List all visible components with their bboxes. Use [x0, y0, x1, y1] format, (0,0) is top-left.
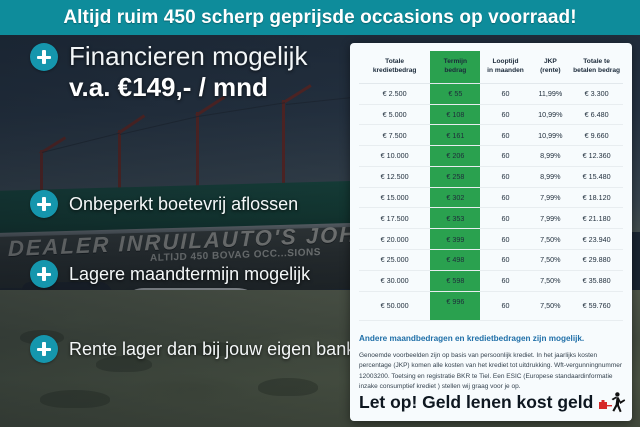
table-cell: 60	[480, 187, 530, 208]
table-row: € 7.500€ 1616010,99%€ 9.660	[359, 125, 623, 146]
table-cell: € 30.000	[359, 270, 430, 291]
column-header-term-amount: Termijn bedrag	[430, 51, 480, 83]
table-cell: € 3.300	[570, 83, 623, 104]
table-cell: € 35.880	[570, 270, 623, 291]
table-cell: € 399	[430, 229, 480, 250]
table-cell: 60	[480, 229, 530, 250]
table-cell: 60	[480, 104, 530, 125]
column-header-duration: Looptijd in maanden	[480, 51, 530, 83]
table-cell: 7,99%	[531, 208, 571, 229]
table-cell: € 12.360	[570, 146, 623, 167]
rates-table-head: Totale kredietbedrag Termijn bedrag Loop…	[359, 51, 623, 83]
note-title: Andere maandbedragen en kredietbedragen …	[359, 334, 623, 345]
table-cell: € 15.480	[570, 166, 623, 187]
plus-circle-icon	[30, 260, 58, 288]
table-cell: 60	[480, 249, 530, 270]
table-cell: 60	[480, 291, 530, 320]
table-row: € 2.500€ 556011,99%€ 3.300	[359, 83, 623, 104]
note-body: Genoemde voorbeelden zijn op basis van p…	[359, 351, 623, 393]
table-row: € 25.000€ 498607,50%€ 29.880	[359, 249, 623, 270]
table-cell: 60	[480, 166, 530, 187]
table-cell: € 6.480	[570, 104, 623, 125]
table-cell: € 55	[430, 83, 480, 104]
table-cell: € 258	[430, 166, 480, 187]
top-banner: Altijd ruim 450 scherp geprijsde occasio…	[0, 0, 640, 35]
feature-item-2: Rente lager dan bij jouw eigen bank	[30, 335, 355, 363]
table-cell: € 17.500	[359, 208, 430, 229]
header-line-2: betalen bedrag	[571, 66, 622, 75]
rates-table: Totale kredietbedrag Termijn bedrag Loop…	[359, 51, 623, 321]
column-header-jkp: JKP (rente)	[531, 51, 571, 83]
table-cell: € 2.500	[359, 83, 430, 104]
table-cell: € 302	[430, 187, 480, 208]
rates-card: Totale kredietbedrag Termijn bedrag Loop…	[350, 43, 632, 421]
table-cell: 10,99%	[531, 125, 571, 146]
table-row: € 30.000€ 598607,50%€ 35.880	[359, 270, 623, 291]
table-cell: € 5.000	[359, 104, 430, 125]
table-cell: € 206	[430, 146, 480, 167]
table-cell: € 353	[430, 208, 480, 229]
table-cell: € 108	[430, 104, 480, 125]
table-cell: € 20.000	[359, 229, 430, 250]
table-cell: € 12.500	[359, 166, 430, 187]
feature-list: Financieren mogelijk v.a. €149,- / mnd O…	[0, 35, 350, 427]
feature-item-0: Onbeperkt boetevrij aflossen	[30, 190, 298, 218]
financing-headline-line1: Financieren mogelijk	[69, 43, 307, 71]
table-cell: 60	[480, 270, 530, 291]
financing-headline-row: Financieren mogelijk	[30, 43, 346, 71]
table-cell: € 996	[430, 291, 480, 320]
financing-headline-line2: v.a. €149,- / mnd	[69, 73, 346, 101]
table-cell: € 59.760	[570, 291, 623, 320]
header-line-2: bedrag	[431, 66, 479, 75]
advertisement-banner: DEALER INRUILAUTO'S JOHAN MEURE ALTIJD 4…	[0, 0, 640, 427]
table-cell: 60	[480, 208, 530, 229]
table-cell: € 50.000	[359, 291, 430, 320]
feature-label: Rente lager dan bij jouw eigen bank	[69, 339, 355, 360]
table-header-row: Totale kredietbedrag Termijn bedrag Loop…	[359, 51, 623, 83]
table-cell: € 15.000	[359, 187, 430, 208]
table-cell: € 21.180	[570, 208, 623, 229]
table-row: € 20.000€ 399607,50%€ 23.940	[359, 229, 623, 250]
loan-warning: Let op! Geld lenen kost geld	[359, 391, 626, 413]
table-cell: € 10.000	[359, 146, 430, 167]
table-row: € 5.000€ 1086010,99%€ 6.480	[359, 104, 623, 125]
table-cell: € 9.660	[570, 125, 623, 146]
plus-circle-icon	[30, 43, 58, 71]
money-bag-walking-person-icon	[598, 391, 626, 413]
table-cell: 7,50%	[531, 291, 571, 320]
header-line-1: Termijn	[431, 57, 479, 66]
header-line-2: kredietbedrag	[360, 66, 429, 75]
header-line-2: (rente)	[532, 66, 570, 75]
rates-table-body: € 2.500€ 556011,99%€ 3.300€ 5.000€ 10860…	[359, 83, 623, 320]
plus-circle-icon	[30, 190, 58, 218]
table-cell: 8,99%	[531, 146, 571, 167]
header-line-2: in maanden	[481, 66, 529, 75]
header-line-1: Totale	[360, 57, 429, 66]
table-cell: 8,99%	[531, 166, 571, 187]
table-cell: € 161	[430, 125, 480, 146]
feature-label: Lagere maandtermijn mogelijk	[69, 264, 310, 285]
table-cell: 7,99%	[531, 187, 571, 208]
table-cell: € 498	[430, 249, 480, 270]
feature-label: Onbeperkt boetevrij aflossen	[69, 194, 298, 215]
table-cell: 10,99%	[531, 104, 571, 125]
table-cell: € 7.500	[359, 125, 430, 146]
banner-headline: Altijd ruim 450 scherp geprijsde occasio…	[63, 7, 576, 29]
table-cell: € 25.000	[359, 249, 430, 270]
table-cell: 60	[480, 83, 530, 104]
table-cell: € 29.880	[570, 249, 623, 270]
column-header-total-payable: Totale te betalen bedrag	[570, 51, 623, 83]
table-cell: 60	[480, 125, 530, 146]
column-header-total-credit: Totale kredietbedrag	[359, 51, 430, 83]
table-cell: € 18.120	[570, 187, 623, 208]
plus-circle-icon	[30, 335, 58, 363]
table-cell: € 23.940	[570, 229, 623, 250]
table-cell: 7,50%	[531, 270, 571, 291]
table-cell: 7,50%	[531, 249, 571, 270]
financing-headline: Financieren mogelijk v.a. €149,- / mnd	[30, 43, 346, 101]
table-cell: 11,99%	[531, 83, 571, 104]
table-row: € 10.000€ 206608,99%€ 12.360	[359, 146, 623, 167]
header-line-1: JKP	[532, 57, 570, 66]
table-row: € 17.500€ 353607,99%€ 21.180	[359, 208, 623, 229]
table-row: € 50.000€ 996607,50%€ 59.760	[359, 291, 623, 320]
table-cell: 60	[480, 146, 530, 167]
feature-item-1: Lagere maandtermijn mogelijk	[30, 260, 310, 288]
loan-warning-text: Let op! Geld lenen kost geld	[359, 392, 593, 413]
header-line-1: Looptijd	[481, 57, 529, 66]
table-row: € 15.000€ 302607,99%€ 18.120	[359, 187, 623, 208]
table-cell: € 598	[430, 270, 480, 291]
table-row: € 12.500€ 258608,99%€ 15.480	[359, 166, 623, 187]
table-cell: 7,50%	[531, 229, 571, 250]
header-line-1: Totale te	[571, 57, 622, 66]
